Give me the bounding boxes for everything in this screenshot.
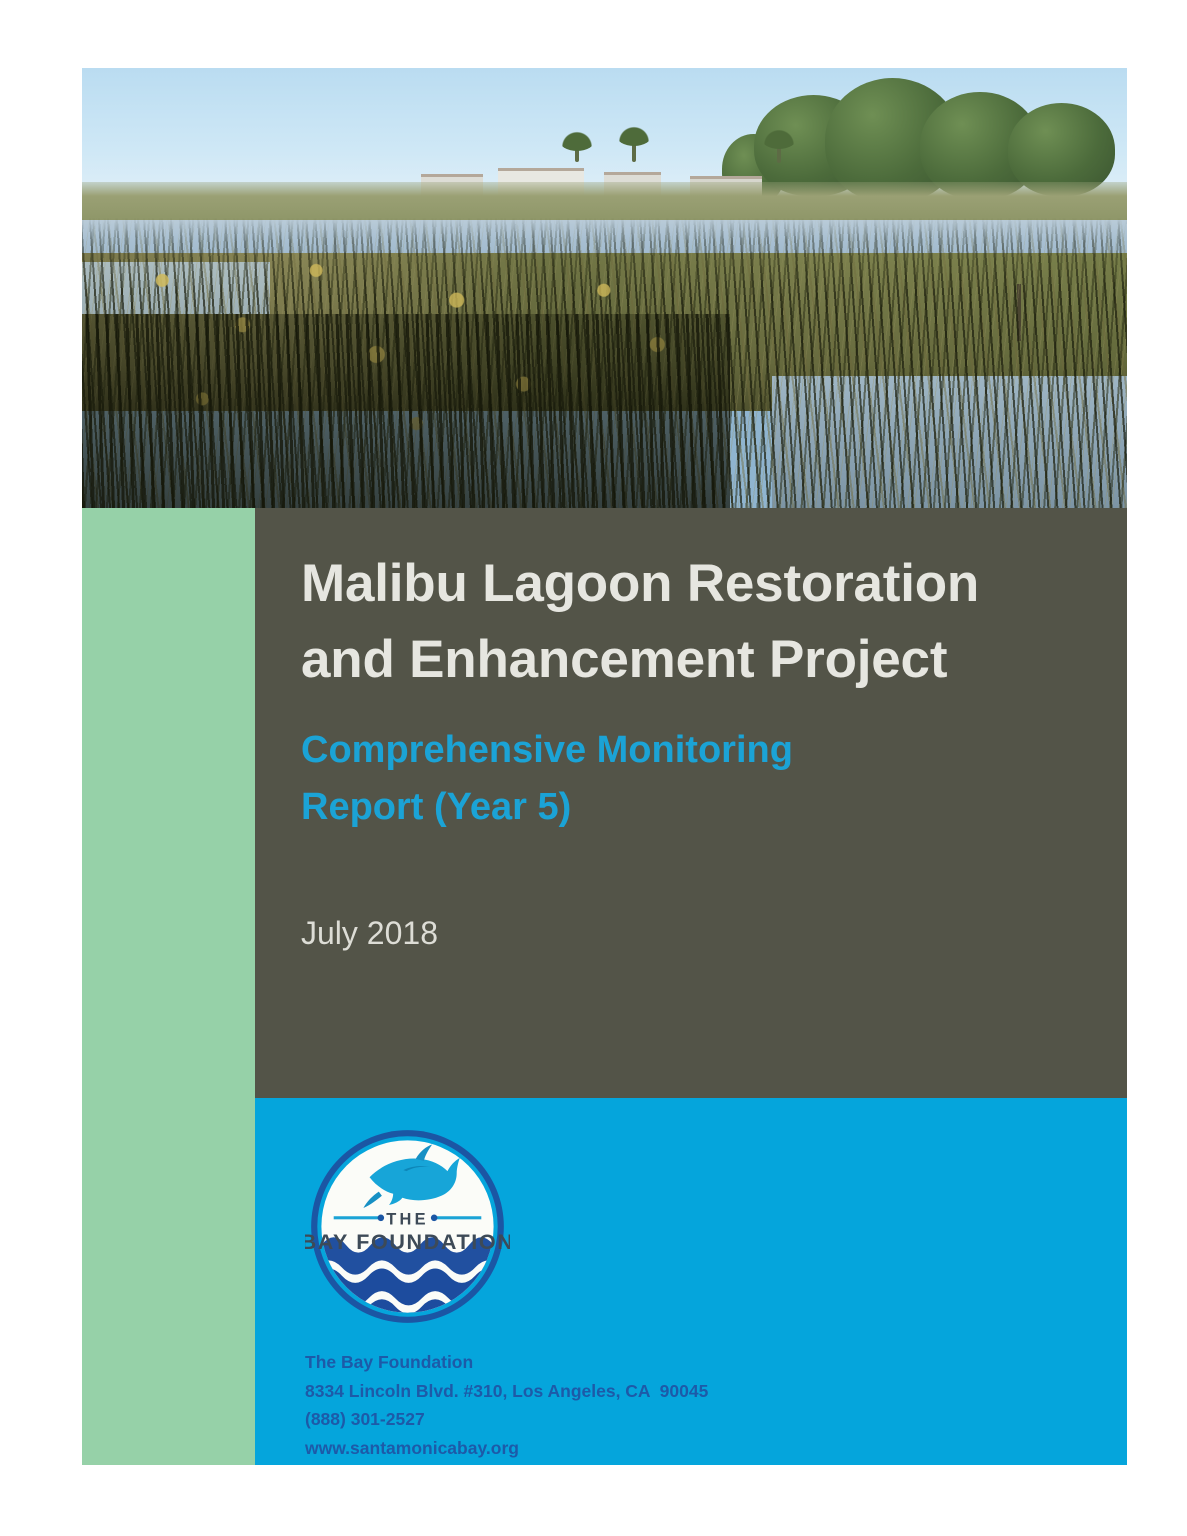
footer-address-block: The Bay Foundation 8334 Lincoln Blvd. #3… xyxy=(305,1348,708,1462)
palm-tree-shape xyxy=(632,136,636,162)
green-accent-strip xyxy=(82,508,255,1465)
photo-foreground-reeds-dark xyxy=(82,314,730,508)
title-block: Malibu Lagoon Restoration and Enhancemen… xyxy=(301,546,1087,952)
report-cover-page: Malibu Lagoon Restoration and Enhancemen… xyxy=(0,0,1187,1536)
title-panel: Malibu Lagoon Restoration and Enhancemen… xyxy=(255,508,1127,1098)
publication-date: July 2018 xyxy=(301,915,1087,952)
logo-word-the: THE xyxy=(386,1210,429,1228)
palm-tree-shape xyxy=(575,141,579,162)
logo-svg: THE BAY FOUNDATION xyxy=(305,1124,510,1329)
footer-phone: (888) 301-2527 xyxy=(305,1405,708,1434)
logo-word-bay-foundation: BAY FOUNDATION xyxy=(305,1230,510,1254)
footer-website[interactable]: www.santamonicabay.org xyxy=(305,1434,708,1463)
cover-photo xyxy=(82,68,1127,508)
palm-tree-shape xyxy=(777,139,781,163)
footer-street-address: 8334 Lincoln Blvd. #310, Los Angeles, CA… xyxy=(305,1377,708,1406)
photo-far-bank xyxy=(82,182,1127,222)
the-bay-foundation-logo: THE BAY FOUNDATION xyxy=(305,1124,510,1329)
page-subtitle: Comprehensive Monitoring Report (Year 5) xyxy=(301,722,921,838)
footer-panel: THE BAY FOUNDATION The Bay Foundation 83… xyxy=(255,1098,1127,1465)
page-title: Malibu Lagoon Restoration and Enhancemen… xyxy=(301,546,1087,698)
footer-organization: The Bay Foundation xyxy=(305,1348,708,1377)
